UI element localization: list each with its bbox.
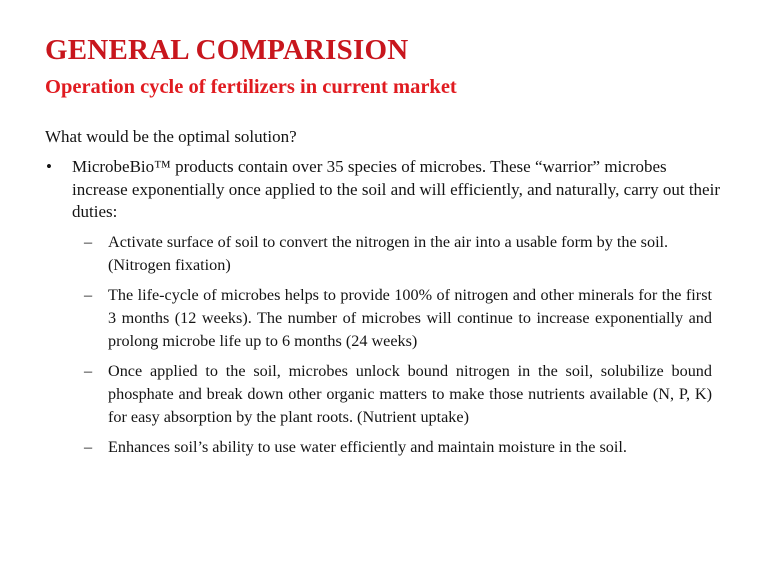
slide-title: GENERAL COMPARISION — [45, 34, 745, 66]
lead-question-text: What would be the optimal solution? — [45, 126, 725, 148]
sub-bullet-item-nutrient-uptake-text: Once applied to the soil, microbes unloc… — [108, 362, 712, 426]
sub-bullet-item-nitrogen-fixation: – Activate surface of soil to convert th… — [45, 231, 712, 277]
bullet-item-primary-text: MicrobeBio™ products contain over 35 spe… — [72, 157, 720, 221]
bullet-dash-icon: – — [84, 436, 92, 459]
sub-bullet-list: – Activate surface of soil to convert th… — [45, 231, 725, 459]
sub-bullet-item-nitrogen-fixation-text: Activate surface of soil to convert the … — [108, 233, 668, 274]
title-block: GENERAL COMPARISION Operation cycle of f… — [45, 34, 745, 100]
presentation-slide: GENERAL COMPARISION Operation cycle of f… — [0, 0, 768, 576]
bullet-dot-icon: • — [46, 156, 52, 179]
sub-bullet-item-water-retention: – Enhances soil’s ability to use water e… — [45, 436, 712, 459]
sub-bullet-item-life-cycle-text: The life-cycle of microbes helps to prov… — [108, 286, 712, 350]
sub-bullet-item-water-retention-text: Enhances soil’s ability to use water eff… — [108, 438, 627, 456]
bullet-item-primary: • MicrobeBio™ products contain over 35 s… — [45, 156, 725, 224]
bullet-dash-icon: – — [84, 231, 92, 254]
sub-bullet-item-nutrient-uptake: – Once applied to the soil, microbes unl… — [45, 360, 712, 429]
slide-body: What would be the optimal solution? • Mi… — [45, 126, 725, 466]
bullet-dash-icon: – — [84, 284, 92, 307]
slide-subtitle: Operation cycle of fertilizers in curren… — [45, 76, 745, 100]
sub-bullet-item-life-cycle: – The life-cycle of microbes helps to pr… — [45, 284, 712, 353]
bullet-dash-icon: – — [84, 360, 92, 383]
